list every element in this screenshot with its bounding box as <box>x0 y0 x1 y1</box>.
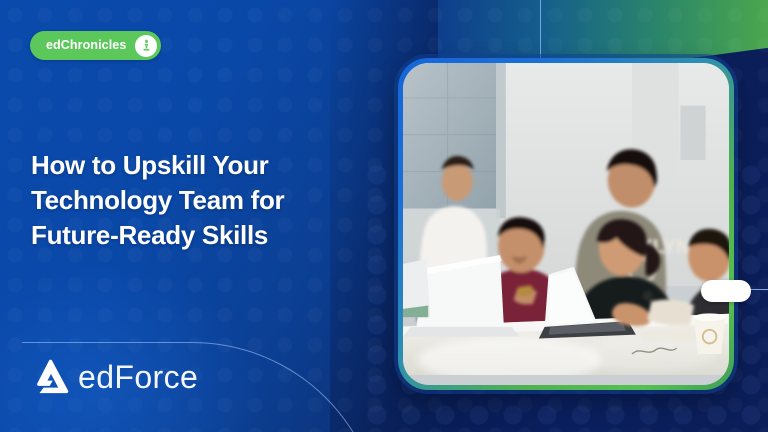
edforce-logo: edForce <box>31 357 198 397</box>
photo-card: OOKLYN <box>398 58 734 390</box>
edchronicles-badge: edChronicles <box>30 31 161 60</box>
vertical-accent-line <box>540 0 541 62</box>
graduation-pawn-icon <box>135 35 157 57</box>
banner-canvas: edChronicles How to Upskill Your Technol… <box>0 0 768 432</box>
edforce-wordmark: edForce <box>78 361 198 393</box>
page-title: How to Upskill Your Technology Team for … <box>31 148 376 252</box>
badge-label: edChronicles <box>46 39 126 52</box>
headline-line-3: Future-Ready Skills <box>31 218 376 253</box>
photo-card-inner: OOKLYN <box>403 63 729 385</box>
headline-line-2: Technology Team for <box>31 183 376 218</box>
team-collaboration-photo: OOKLYN <box>403 63 729 375</box>
headline-line-1: How to Upskill Your <box>31 148 376 183</box>
edforce-triangle-mark-icon <box>31 357 71 397</box>
white-pill-accent <box>701 280 751 302</box>
